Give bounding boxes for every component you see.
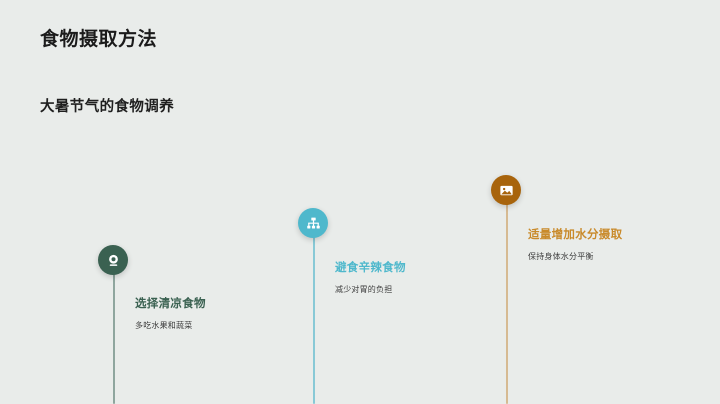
timeline-marker-3[interactable] <box>491 175 521 205</box>
sitemap-icon <box>306 216 321 231</box>
timeline: 选择清凉食物 多吃水果和蔬菜 <box>0 0 720 404</box>
timeline-node-3[interactable]: 适量增加水分摄取 保持身体水分平衡 <box>506 0 720 404</box>
timeline-connector-line-1 <box>113 272 115 404</box>
timeline-description-3: 保持身体水分平衡 <box>528 251 720 262</box>
image-icon <box>499 183 514 198</box>
timeline-text-block-3: 适量增加水分摄取 保持身体水分平衡 <box>528 228 720 262</box>
timeline-connector-line-3 <box>506 202 508 404</box>
slide-canvas: 食物摄取方法 大暑节气的食物调养 选择清凉食物 多吃水果和蔬菜 <box>0 0 720 404</box>
timeline-marker-1[interactable] <box>98 245 128 275</box>
timeline-marker-2[interactable] <box>298 208 328 238</box>
timeline-connector-line-2 <box>313 235 315 404</box>
webcam-icon <box>106 253 121 268</box>
timeline-heading-3: 适量增加水分摄取 <box>528 228 720 244</box>
